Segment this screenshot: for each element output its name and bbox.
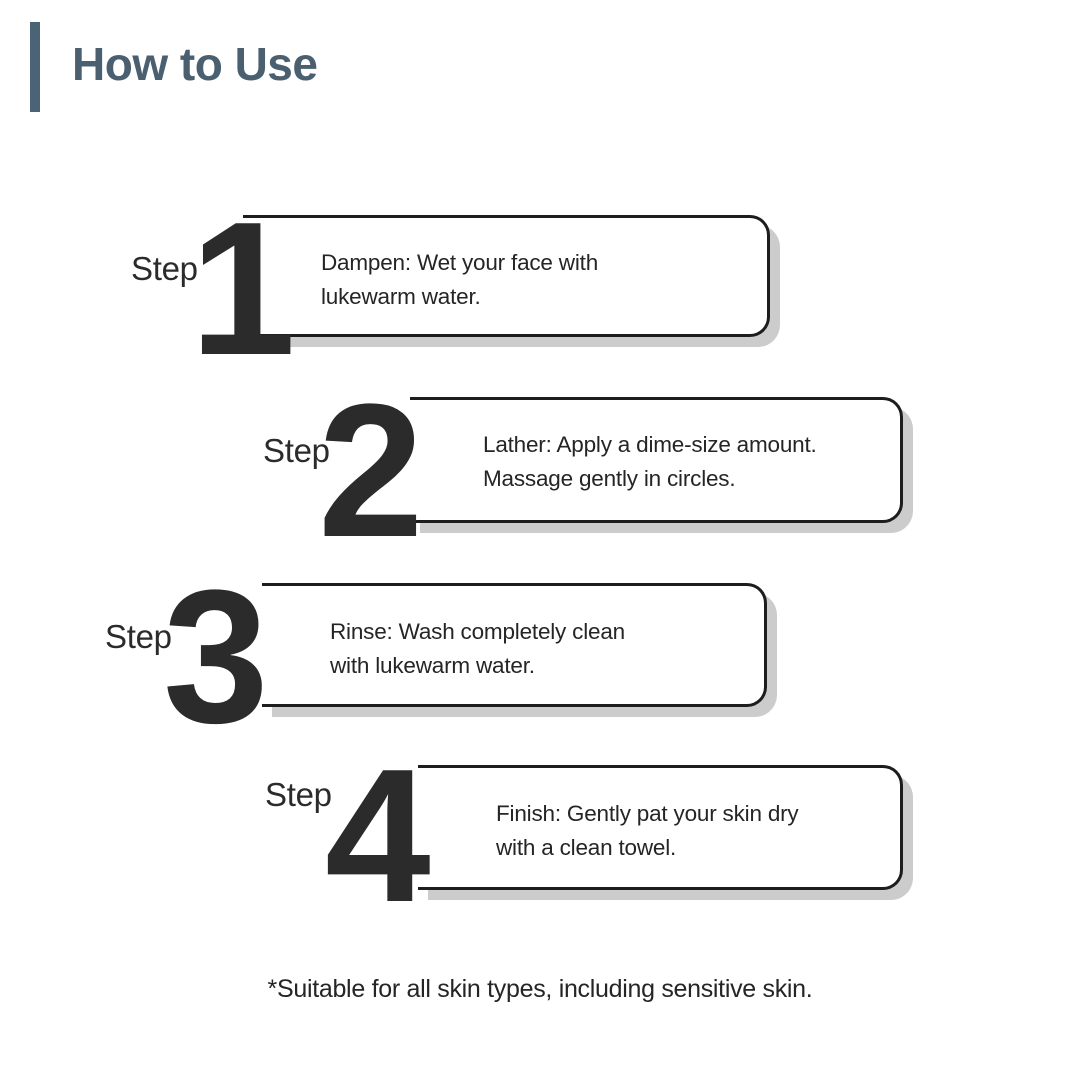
step-text-1-line1: Dampen: Wet your face with <box>321 246 598 280</box>
step-text-4-line1: Finish: Gently pat your skin dry <box>496 797 798 831</box>
steps-list: Step 1 Dampen: Wet your face with lukewa… <box>0 0 1080 1080</box>
step-label-1: Step <box>131 250 198 288</box>
footnote-text: *Suitable for all skin types, including … <box>0 975 1080 1004</box>
step-text-4-line2: with a clean towel. <box>496 831 798 865</box>
step-card-4[interactable]: Finish: Gently pat your skin dry with a … <box>418 765 903 890</box>
step-text-3: Rinse: Wash completely clean with lukewa… <box>330 615 625 683</box>
step-label-3: Step <box>105 618 172 656</box>
step-text-4: Finish: Gently pat your skin dry with a … <box>496 797 798 865</box>
step-text-3-line2: with lukewarm water. <box>330 649 625 683</box>
step-label-2: Step <box>263 432 330 470</box>
step-text-1-line2: lukewarm water. <box>321 280 598 314</box>
step-text-2-line2: Massage gently in circles. <box>483 462 817 496</box>
step-text-2-line1: Lather: Apply a dime-size amount. <box>483 428 817 462</box>
step-text-2: Lather: Apply a dime-size amount. Massag… <box>483 428 817 496</box>
step-numeral-4: 4 <box>325 741 425 931</box>
step-numeral-3: 3 <box>163 562 263 752</box>
step-label-4: Step <box>265 776 332 814</box>
step-numeral-2: 2 <box>318 376 418 566</box>
step-text-1: Dampen: Wet your face with lukewarm wate… <box>321 246 598 314</box>
step-card-3[interactable]: Rinse: Wash completely clean with lukewa… <box>262 583 767 707</box>
step-numeral-1: 1 <box>190 194 290 384</box>
step-card-2[interactable]: Lather: Apply a dime-size amount. Massag… <box>410 397 903 523</box>
step-text-3-line1: Rinse: Wash completely clean <box>330 615 625 649</box>
step-card-1[interactable]: Dampen: Wet your face with lukewarm wate… <box>243 215 770 337</box>
